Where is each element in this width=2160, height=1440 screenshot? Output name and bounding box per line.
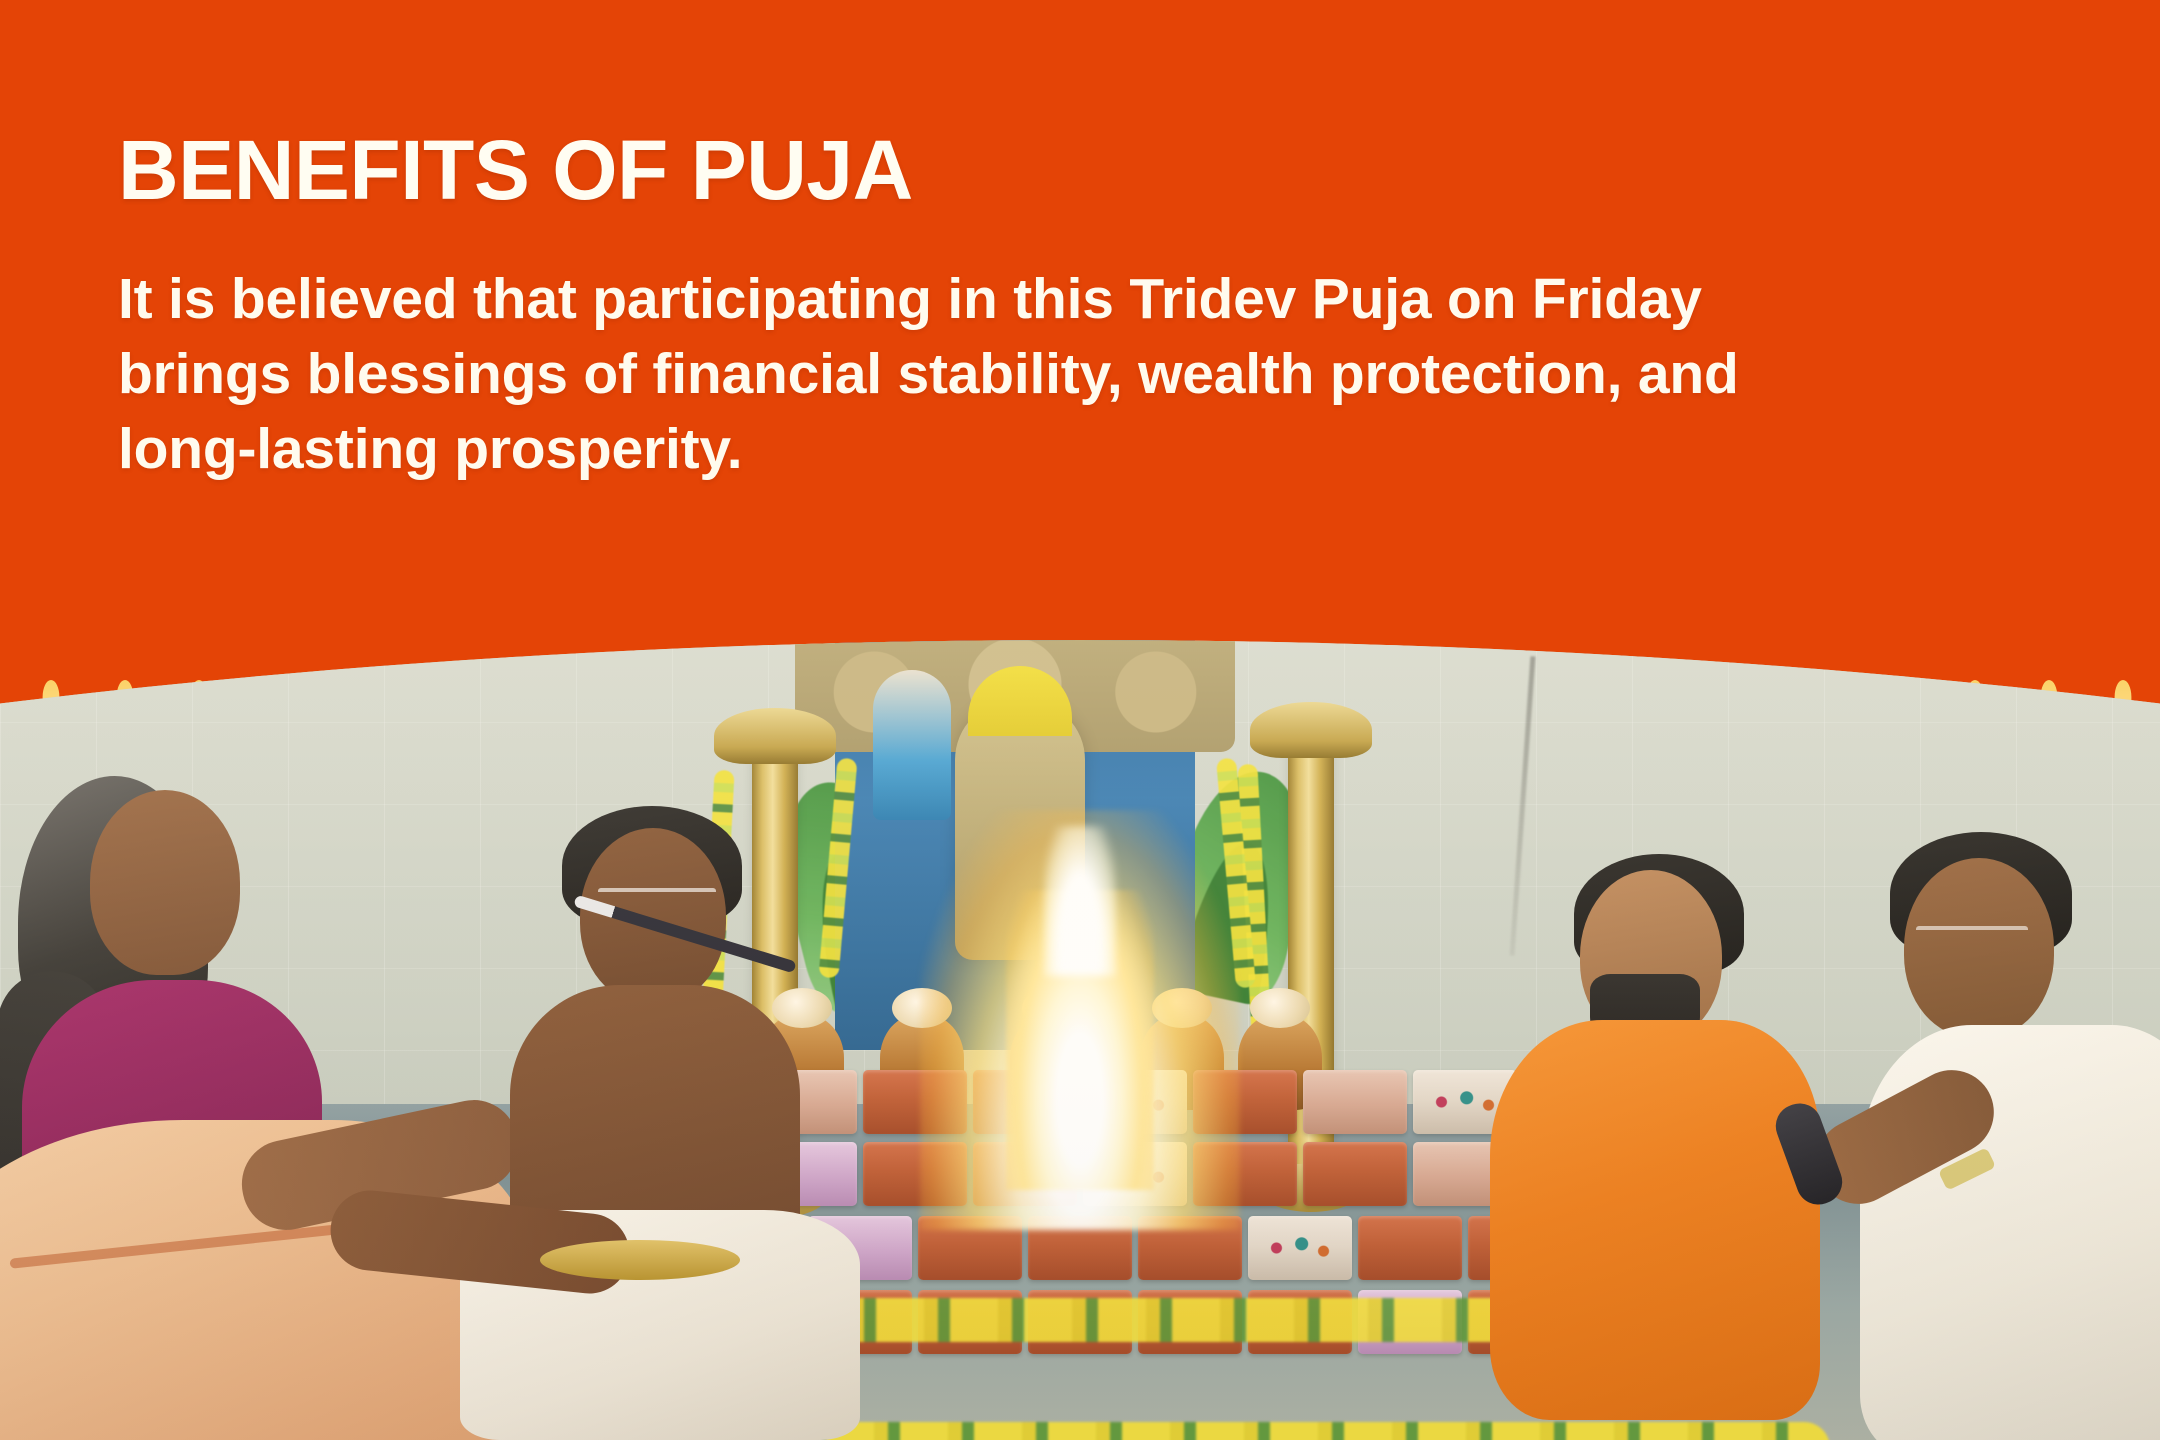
puja-ceremony-photo bbox=[0, 640, 2160, 1440]
white-kurta bbox=[1860, 1025, 2160, 1440]
photo-panel bbox=[0, 640, 2160, 1440]
altar-brick bbox=[1303, 1070, 1407, 1134]
face bbox=[1904, 858, 2054, 1038]
secondary-idol bbox=[873, 670, 951, 820]
text-block: BENEFITS OF PUJA It is believed that par… bbox=[118, 128, 1928, 487]
ceremony-scene bbox=[0, 640, 2160, 1440]
priest-left bbox=[470, 810, 870, 1430]
altar-brick bbox=[1358, 1216, 1462, 1280]
glasses-icon bbox=[1916, 926, 2028, 946]
offering-tray bbox=[540, 1240, 740, 1280]
devotee-woman bbox=[0, 790, 530, 1440]
face bbox=[580, 828, 726, 1004]
page-title: BENEFITS OF PUJA bbox=[118, 128, 1928, 214]
attendant-right bbox=[1820, 840, 2160, 1440]
poster-canvas: BENEFITS OF PUJA It is believed that par… bbox=[0, 0, 2160, 1440]
altar-brick bbox=[1248, 1216, 1352, 1280]
face bbox=[90, 790, 240, 975]
benefits-description: It is believed that participating in thi… bbox=[118, 262, 1878, 488]
homa-fire-flame bbox=[1044, 826, 1116, 976]
altar-brick bbox=[1303, 1142, 1407, 1206]
saffron-robe bbox=[1490, 1020, 1820, 1420]
